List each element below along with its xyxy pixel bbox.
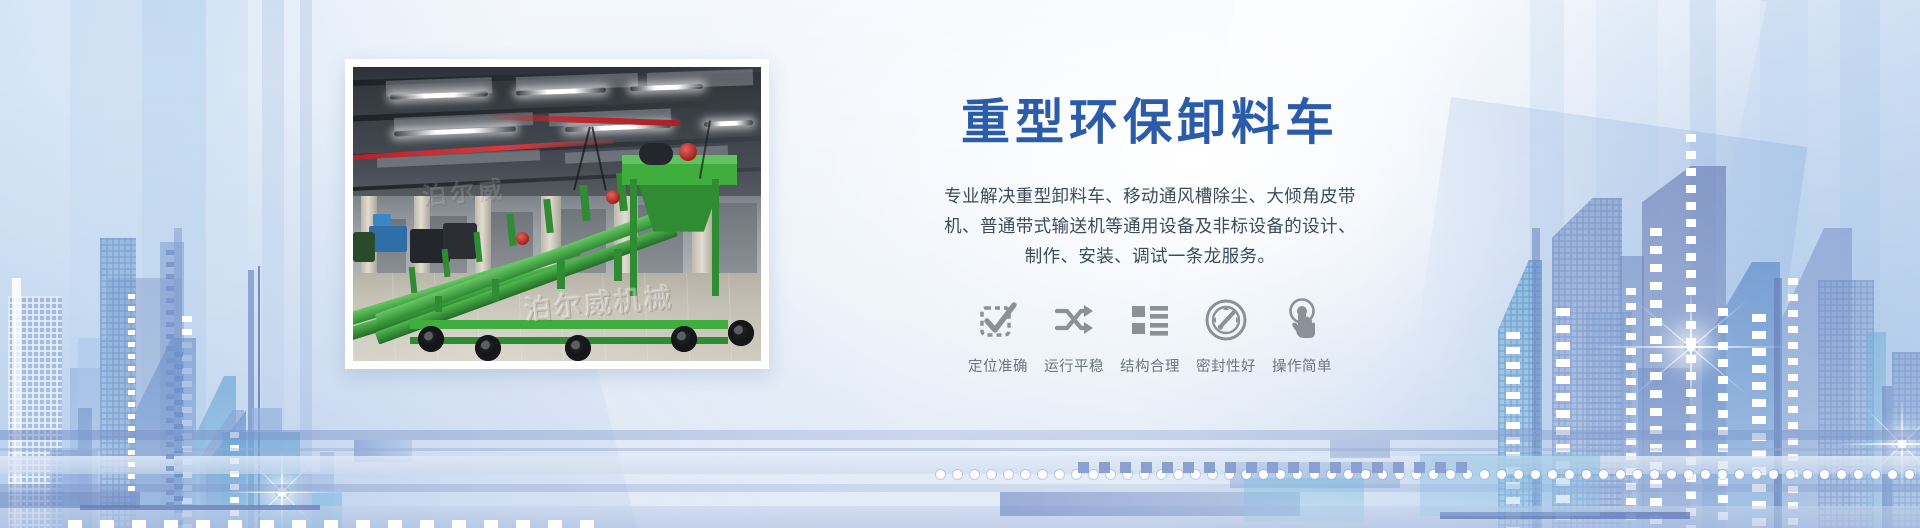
product-photo-card[interactable]: 泊尔威机械 泊尔威: [345, 59, 769, 369]
feature-label: 密封性好: [1196, 355, 1256, 376]
square-row-upper: [1078, 462, 1467, 473]
feature-label: 结构合理: [1120, 355, 1180, 376]
page-title: 重型环保卸料车: [800, 96, 1500, 151]
feature-list: 定位准确 运行平稳: [800, 297, 1500, 376]
list-blocks-icon: [1127, 297, 1173, 343]
banner-content: 重型环保卸料车 专业解决重型卸料车、移动通风槽除尘、大倾角皮带机、普通带式输送机…: [800, 96, 1500, 376]
starburst-far-right: [1898, 440, 1906, 448]
photo-conveyor-drum: [639, 143, 673, 165]
photo-watermark-secondary: 泊尔威: [421, 169, 508, 211]
product-photo: 泊尔威机械 泊尔威: [353, 67, 761, 361]
check-box-icon: [975, 297, 1021, 343]
shuffle-arrows-icon: [1051, 297, 1097, 343]
feature-item-sealing[interactable]: 密封性好: [1188, 297, 1264, 376]
banner-description: 专业解决重型卸料车、移动通风槽除尘、大倾角皮带机、普通带式输送机等通用设备及非标…: [940, 181, 1360, 271]
photo-truck-cab: [373, 214, 391, 226]
hand-touch-icon: [1279, 297, 1325, 343]
feature-label: 定位准确: [968, 355, 1028, 376]
feature-item-structure[interactable]: 结构合理: [1112, 297, 1188, 376]
feature-item-positioning[interactable]: 定位准确: [960, 297, 1036, 376]
starburst-right: [1686, 342, 1696, 352]
square-row-bottom: [68, 520, 594, 528]
photo-drums-3: [353, 232, 375, 262]
feature-item-smooth-run[interactable]: 运行平稳: [1036, 297, 1112, 376]
feature-item-easy-operation[interactable]: 操作简单: [1264, 297, 1340, 376]
photo-truck: [369, 226, 407, 252]
feature-label: 运行平稳: [1044, 355, 1104, 376]
hero-banner: 泊尔威机械 泊尔威 重型环保卸料车 专业解决重型卸料车、移动通风槽除尘、大倾角皮…: [0, 0, 1920, 528]
feature-label: 操作简单: [1272, 355, 1332, 376]
gauge-seal-icon: [1203, 297, 1249, 343]
